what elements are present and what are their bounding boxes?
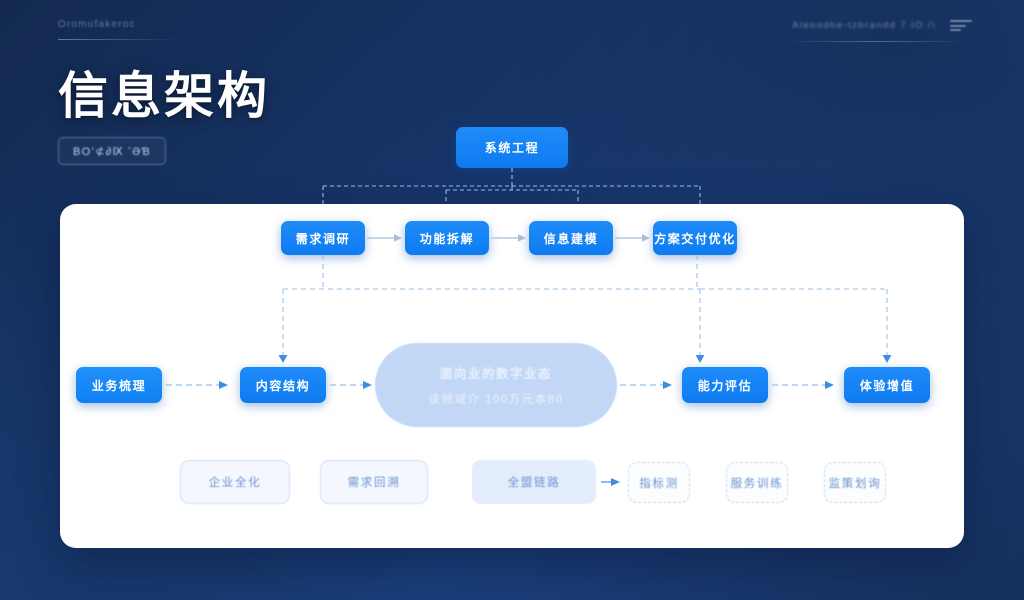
top-bar: Oromufakeroc Aleoodhe-tzbrandd 7 IO /\ (0, 0, 1024, 46)
brand-label: Oromufakeroc (58, 19, 136, 30)
pill-5[interactable]: 服务训练 (726, 462, 788, 503)
stage-node-3[interactable]: 信息建模 (529, 221, 613, 255)
diagram-root-node[interactable]: 系统工程 (456, 127, 568, 168)
nav-underline (786, 41, 966, 42)
stage-node-1[interactable]: 需求调研 (281, 221, 365, 255)
pill-1[interactable]: 企业全化 (180, 460, 290, 504)
hamburger-menu-icon[interactable] (950, 20, 972, 30)
hero-badge: BOʻ⊄∂Ⅸ ʼƏƁ (58, 137, 166, 165)
flow-node-1[interactable]: 业务梳理 (76, 367, 162, 403)
pill-3[interactable]: 全盟链路 (472, 460, 596, 504)
pill-2[interactable]: 需求回溯 (320, 460, 428, 504)
flow-node-2[interactable]: 内容结构 (240, 367, 326, 403)
hub-line-1: 面向业的数字业态 (440, 363, 552, 382)
pill-4[interactable]: 指标测 (628, 462, 690, 503)
nav-label[interactable]: Aleoodhe-tzbrandd 7 IO /\ (792, 20, 936, 31)
stage-node-2[interactable]: 功能拆解 (405, 221, 489, 255)
diagram-card: 需求调研 功能拆解 信息建模 方案交付优化 业务梳理 内容结构 能力评估 体验增… (60, 204, 964, 548)
diagram-hub[interactable]: 面向业的数字业态 该领域介 100万元本80 (375, 343, 617, 427)
stage-node-4[interactable]: 方案交付优化 (653, 221, 737, 255)
hub-line-2: 该领域介 100万元本80 (428, 391, 563, 407)
pill-6[interactable]: 监策划询 (824, 462, 886, 503)
flow-node-3[interactable]: 能力评估 (682, 367, 768, 403)
brand-underline (58, 39, 180, 40)
flow-node-4[interactable]: 体验增值 (844, 367, 930, 403)
page-title: 信息架构 (58, 68, 270, 124)
